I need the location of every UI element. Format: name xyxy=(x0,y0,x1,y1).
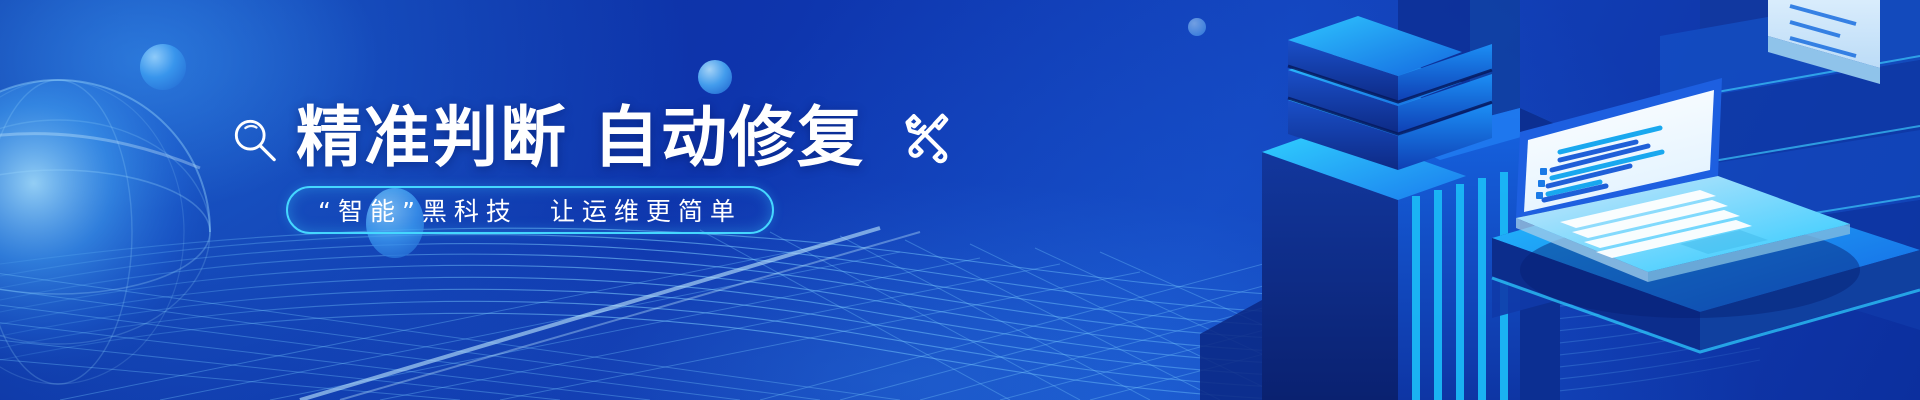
foreground-block xyxy=(1200,300,1262,400)
headline-row: 精准判断 自动修复 xyxy=(232,96,955,180)
subtitle-pill: “智能”黑科技 让运维更简单 xyxy=(286,186,774,234)
magnifying-glass-icon xyxy=(232,117,278,163)
promo-banner: 精准判断 自动修复 “智能”黑科技 让运维更简单 xyxy=(0,0,1920,400)
wrench-screwdriver-icon xyxy=(893,105,955,167)
headline-text: 精准判断 自动修复 xyxy=(296,105,865,171)
subtitle-text: “智能”黑科技 让运维更简单 xyxy=(318,192,742,228)
